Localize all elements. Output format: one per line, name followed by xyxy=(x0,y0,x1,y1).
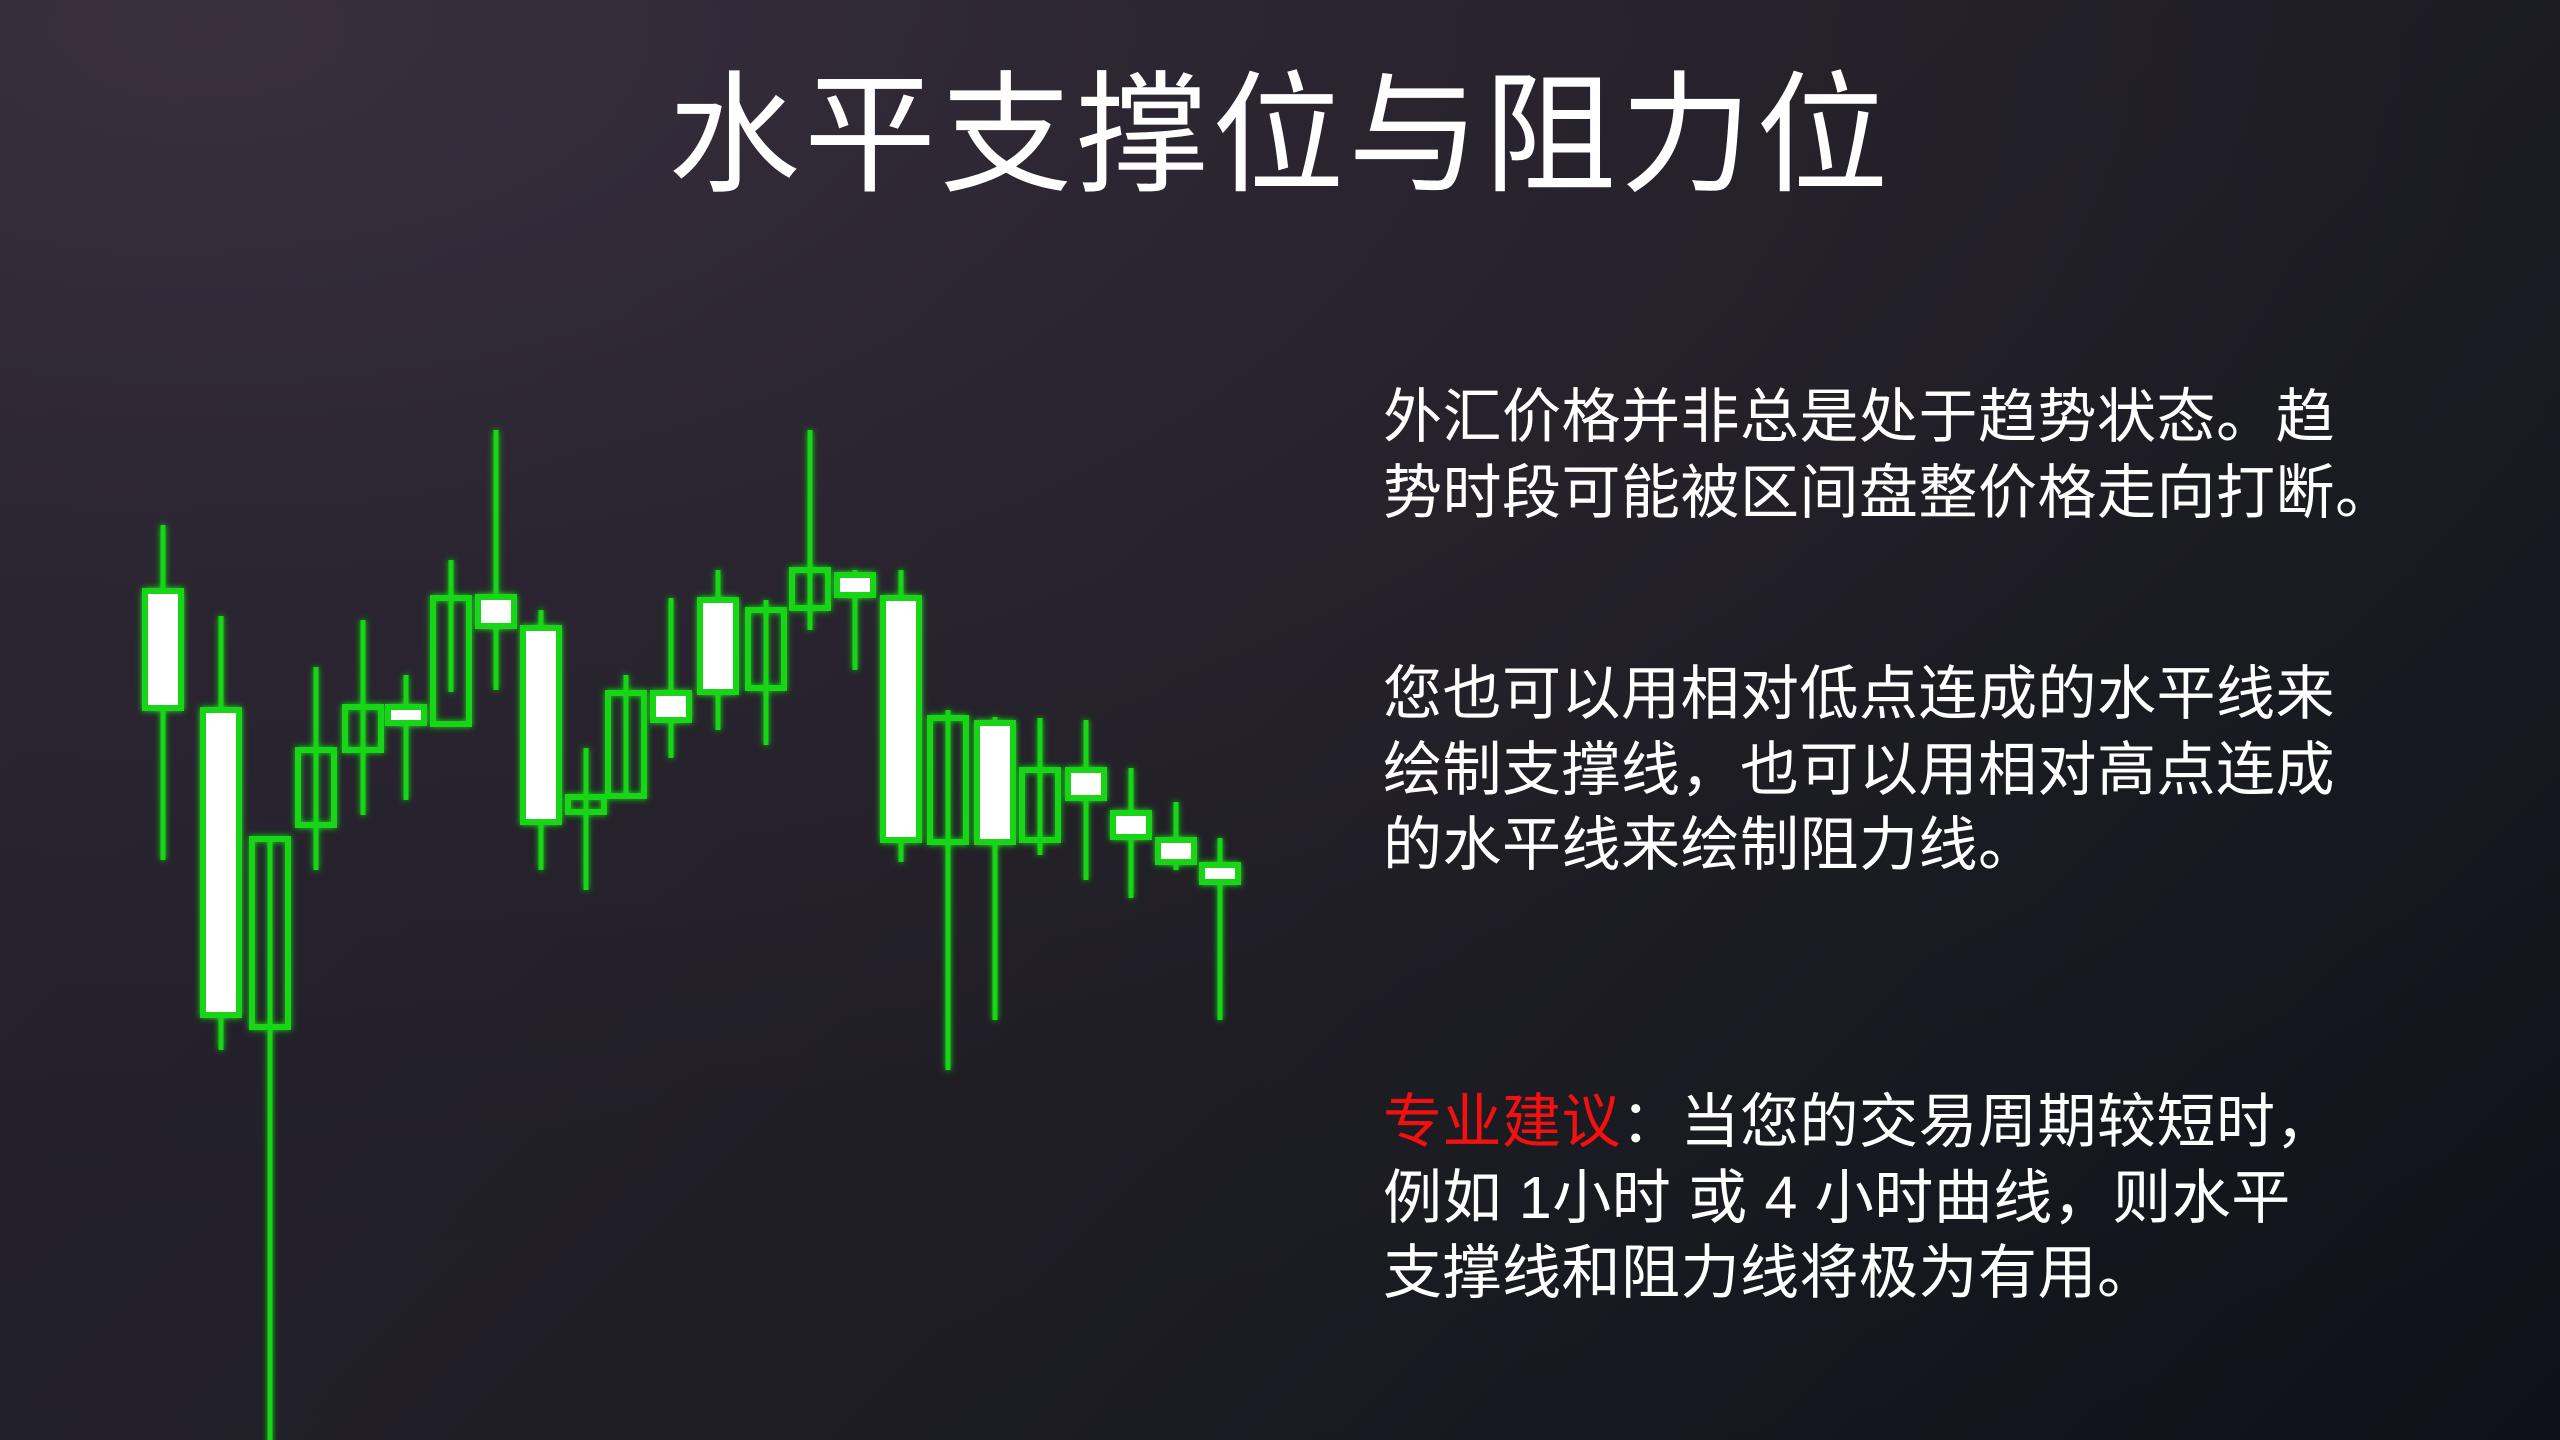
candle-body xyxy=(203,710,239,1015)
candle-body xyxy=(478,597,514,626)
candle xyxy=(748,600,784,745)
candle xyxy=(653,598,689,758)
candle xyxy=(1202,838,1238,1020)
candle xyxy=(203,616,239,1050)
candle-body xyxy=(1068,770,1104,798)
candle xyxy=(1022,718,1058,855)
page-title: 水平支撑位与阻力位 xyxy=(0,62,2560,210)
candle xyxy=(792,430,828,630)
paragraph-intro: 外汇价格并非总是处于趋势状态。趋 势时段可能被区间盘整价格走向打断。 xyxy=(1383,380,2493,531)
candle-body xyxy=(1158,840,1194,862)
candle xyxy=(252,839,288,1440)
candle xyxy=(145,525,181,860)
candle xyxy=(568,748,604,890)
candle xyxy=(345,620,381,815)
candle xyxy=(700,570,736,730)
candle-body xyxy=(837,575,873,595)
candle xyxy=(1068,720,1104,880)
candle xyxy=(608,675,644,798)
candle xyxy=(298,667,334,870)
candle-body xyxy=(653,693,689,720)
candle xyxy=(883,570,919,862)
pro-tip-label: 专业建议 xyxy=(1383,1089,1621,1155)
candle-body xyxy=(977,723,1013,842)
candle-body xyxy=(700,600,736,692)
candle xyxy=(478,430,514,690)
candle xyxy=(837,570,873,670)
candle xyxy=(433,560,469,724)
text-column: 外汇价格并非总是处于趋势状态。趋 势时段可能被区间盘整价格走向打断。 您也可以用… xyxy=(1383,380,2493,1312)
candle-body xyxy=(523,628,559,822)
candlestick-chart-svg xyxy=(100,430,1360,1130)
candle-series xyxy=(145,430,1238,1440)
candle-body xyxy=(1113,813,1149,837)
paragraph-pro-tip: 专业建议：当您的交易周期较短时， 例如 1小时 或 4 小时曲线，则水平 支撑线… xyxy=(1383,1010,2493,1312)
candle xyxy=(1113,768,1149,898)
paragraph-drawing-lines: 您也可以用相对低点连成的水平线来 绘制支撑线，也可以用相对高点连成 的水平线来绘… xyxy=(1383,657,2493,884)
candle-body xyxy=(388,707,424,723)
candlestick-chart xyxy=(100,430,1360,1130)
slide-root: 水平支撑位与阻力位 外汇价格并非总是处于趋势状态。趋 势时段可能被区间盘整价格走… xyxy=(0,0,2560,1440)
candle xyxy=(1158,802,1194,870)
candle-body xyxy=(145,591,181,708)
candle xyxy=(388,675,424,800)
candle-body xyxy=(1202,865,1238,882)
candle xyxy=(523,610,559,870)
candle xyxy=(977,717,1013,1020)
candle-body xyxy=(883,598,919,840)
